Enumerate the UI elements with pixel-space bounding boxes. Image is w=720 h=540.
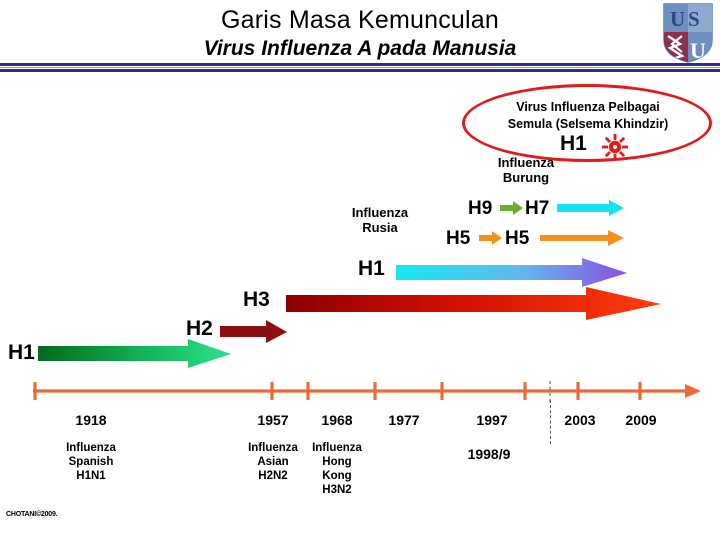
page-title: Garis Masa Kemunculan (0, 6, 720, 35)
h5-source-label: H5 (446, 228, 470, 250)
svg-text:U: U (670, 7, 685, 31)
h9-to-h7-link-arrow (500, 200, 524, 221)
year-label-2009: 2009 (611, 412, 671, 428)
caption-spanish-flu: Influenza Spanish H1N1 (59, 441, 123, 483)
h7-label: H7 (525, 198, 549, 220)
sunburst-icon (602, 134, 628, 160)
russian-influenza-annotation: Influenza Rusia (330, 205, 430, 235)
h9-label: H9 (468, 198, 492, 220)
avian-influenza-annotation: Influenza Burung (466, 155, 586, 185)
h1-spanish-timeline-arrow (38, 339, 232, 374)
h5-target-label: H5 (505, 228, 529, 250)
page-subtitle: Virus Influenza A pada Manusia (0, 37, 720, 61)
year-label-1977: 1977 (374, 412, 434, 428)
year-label-1957: 1957 (243, 412, 303, 428)
caption-hongkong-flu: Influenza Hong Kong H3N2 (305, 441, 369, 497)
callout-line-1: Virus Influenza Pelbagai (470, 100, 706, 114)
h3-label: H3 (243, 288, 270, 312)
svg-text:S: S (688, 7, 700, 31)
callout-line-2: Semula (Selsema Khindzir) (470, 117, 706, 131)
year-label-1918: 1918 (61, 412, 121, 428)
h3-timeline-arrow (286, 287, 662, 326)
year-label-1968: 1968 (307, 412, 367, 428)
callout-subtype-label: H1 (560, 132, 587, 156)
h5-to-h5-link-arrow (479, 230, 503, 251)
year-label-1997: 1997 (462, 412, 522, 428)
header-divider (0, 63, 720, 73)
h5-timeline-arrow (540, 230, 625, 251)
h1-russian-label: H1 (358, 257, 385, 281)
year-label-1998-9: 1998/9 (444, 446, 534, 462)
slide-canvas: Garis Masa Kemunculan Virus Influenza A … (0, 0, 720, 540)
h7-timeline-arrow (557, 200, 625, 221)
caption-asian-flu: Influenza Asian H2N2 (241, 441, 305, 483)
year-label-2003: 2003 (550, 412, 610, 428)
usu-shield-logo: U S U (662, 2, 714, 64)
copyright-credit: CHOTANI©2009. (6, 511, 57, 518)
timeline-axis (30, 380, 702, 402)
h1-spanish-label: H1 (8, 341, 35, 365)
h2-label: H2 (186, 317, 213, 341)
